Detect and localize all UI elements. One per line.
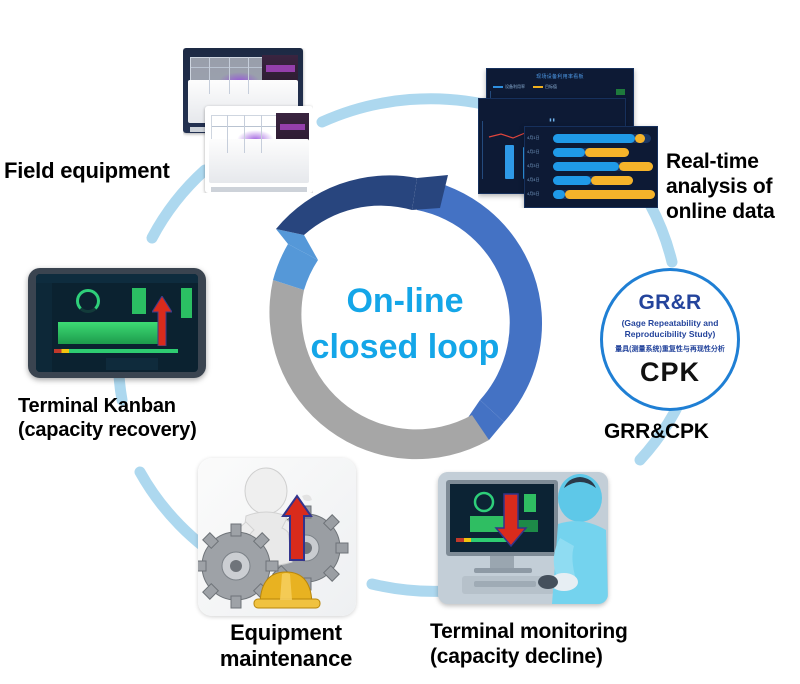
label-realtime-analysis: Real-time analysis of online data <box>666 150 775 224</box>
hbar-row-3 <box>553 176 633 185</box>
dashboard-title: 现场设备利用率看板 <box>487 73 633 80</box>
legend-item-0: 设备利用率 <box>493 84 525 90</box>
grr-chinese: 量具(测量系统)重复性与再现性分析 <box>615 344 725 354</box>
equipment-maintenance-illustration <box>198 458 356 616</box>
hbar-label-3: 4月4日 <box>527 177 539 183</box>
hbar-row-2 <box>553 162 653 171</box>
hbar-row-0 <box>553 134 651 143</box>
diagram-canvas: On-line closed loop 现场设备利 <box>0 0 800 684</box>
monitoring-svg <box>438 472 608 604</box>
label-equipment-maintenance: Equipment maintenance <box>196 620 376 672</box>
maintenance-svg <box>198 458 356 616</box>
hbar-row-4 <box>553 190 655 199</box>
grr-cpk-badge: GR&R (Gage Repeatability and Reproducibi… <box>600 268 740 411</box>
terminal-monitoring-photo <box>438 472 608 604</box>
grr-title: GR&R <box>638 291 701 315</box>
label-terminal-monitoring: Terminal monitoring (capacity decline) <box>430 620 628 670</box>
dashboard-legend: 设备利用率 目标值 <box>493 84 557 90</box>
kanban-gauge <box>76 289 100 313</box>
kanban-waveform <box>58 322 166 344</box>
label-grr-cpk: GRR&CPK <box>604 420 709 445</box>
kanban-screen <box>36 274 198 372</box>
ring-segment-right <box>417 178 542 422</box>
hbar-label-4: 4月5日 <box>527 191 539 197</box>
cpk-title: CPK <box>640 357 700 388</box>
terminal-kanban-photo <box>28 268 206 378</box>
ring-segment-bottom <box>269 280 489 459</box>
field-equipment-photo <box>183 48 313 193</box>
legend-item-1: 目标值 <box>533 84 557 90</box>
realtime-dashboard-photo: 现场设备利用率看板 设备利用率 目标值 ▮ ▮ 4月1日 <box>478 68 658 208</box>
label-field-equipment: Field equipment <box>4 158 170 184</box>
person-figure <box>550 474 608 604</box>
hbar-row-1 <box>553 148 629 157</box>
kanban-status-band <box>54 349 178 353</box>
label-terminal-kanban: Terminal Kanban (capacity recovery) <box>18 395 197 442</box>
bar-column-0 <box>505 145 514 179</box>
hbar-label-2: 4月3日 <box>527 163 539 169</box>
machine-photo-front <box>205 106 313 193</box>
closed-loop-ring: On-line closed loop <box>252 172 558 478</box>
grr-subtitle: (Gage Repeatability and Reproducibility … <box>622 318 719 339</box>
hbar-label-1: 4月2日 <box>527 149 539 155</box>
arc-top <box>322 99 500 122</box>
hbar-label-0: 4月1日 <box>527 135 539 141</box>
arrow-up-icon <box>152 296 172 346</box>
dashboard-panel-hbar-chart: 4月1日 4月2日 4月3日 4月4日 4月5日 <box>524 126 658 208</box>
ring-svg <box>252 172 558 478</box>
